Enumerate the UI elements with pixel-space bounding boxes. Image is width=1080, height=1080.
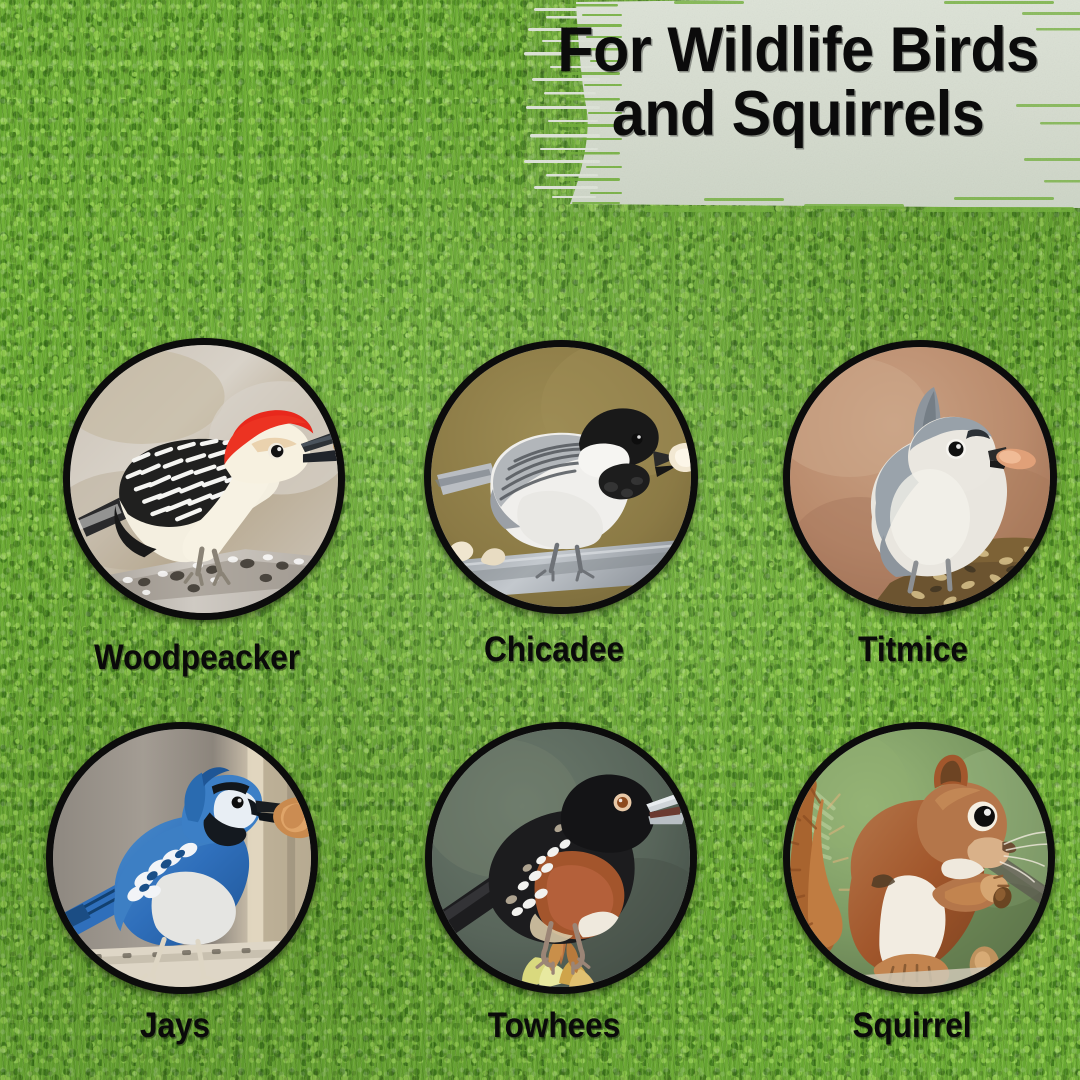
photo-jays[interactable] xyxy=(46,722,318,994)
caption-towhees: Towhees xyxy=(488,1006,620,1046)
tile-titmice: Titmice xyxy=(783,340,1043,670)
photo-chicadee[interactable] xyxy=(424,340,698,614)
photo-towhees[interactable] xyxy=(425,722,697,994)
towhee-illustration xyxy=(432,729,690,987)
caption-titmice: Titmice xyxy=(858,630,968,670)
titmouse-illustration xyxy=(790,347,1050,607)
blue-jay-illustration xyxy=(53,729,311,987)
red-squirrel-illustration xyxy=(790,729,1048,987)
photo-woodpeacker[interactable] xyxy=(63,338,345,620)
woodpecker-illustration xyxy=(70,345,338,613)
caption-squirrel: Squirrel xyxy=(852,1006,971,1046)
photo-squirrel[interactable] xyxy=(783,722,1055,994)
tile-towhees: Towhees xyxy=(425,722,683,1050)
tile-chicadee: Chicadee xyxy=(424,340,684,670)
chickadee-illustration xyxy=(431,347,691,607)
title-banner: For Wildlife Birds and Squirrels xyxy=(524,0,1080,212)
tile-woodpeacker: Woodpeacker xyxy=(63,338,331,676)
tile-jays: Jays xyxy=(46,722,304,1050)
caption-woodpeacker: Woodpeacker xyxy=(94,638,300,678)
banner-title-text: For Wildlife Birds and Squirrels xyxy=(540,18,1055,147)
caption-chicadee: Chicadee xyxy=(484,630,624,670)
poster-canvas: For Wildlife Birds and Squirrels xyxy=(0,0,1080,1080)
tile-squirrel: Squirrel xyxy=(783,722,1041,1050)
photo-titmice[interactable] xyxy=(783,340,1057,614)
caption-jays: Jays xyxy=(140,1006,210,1046)
